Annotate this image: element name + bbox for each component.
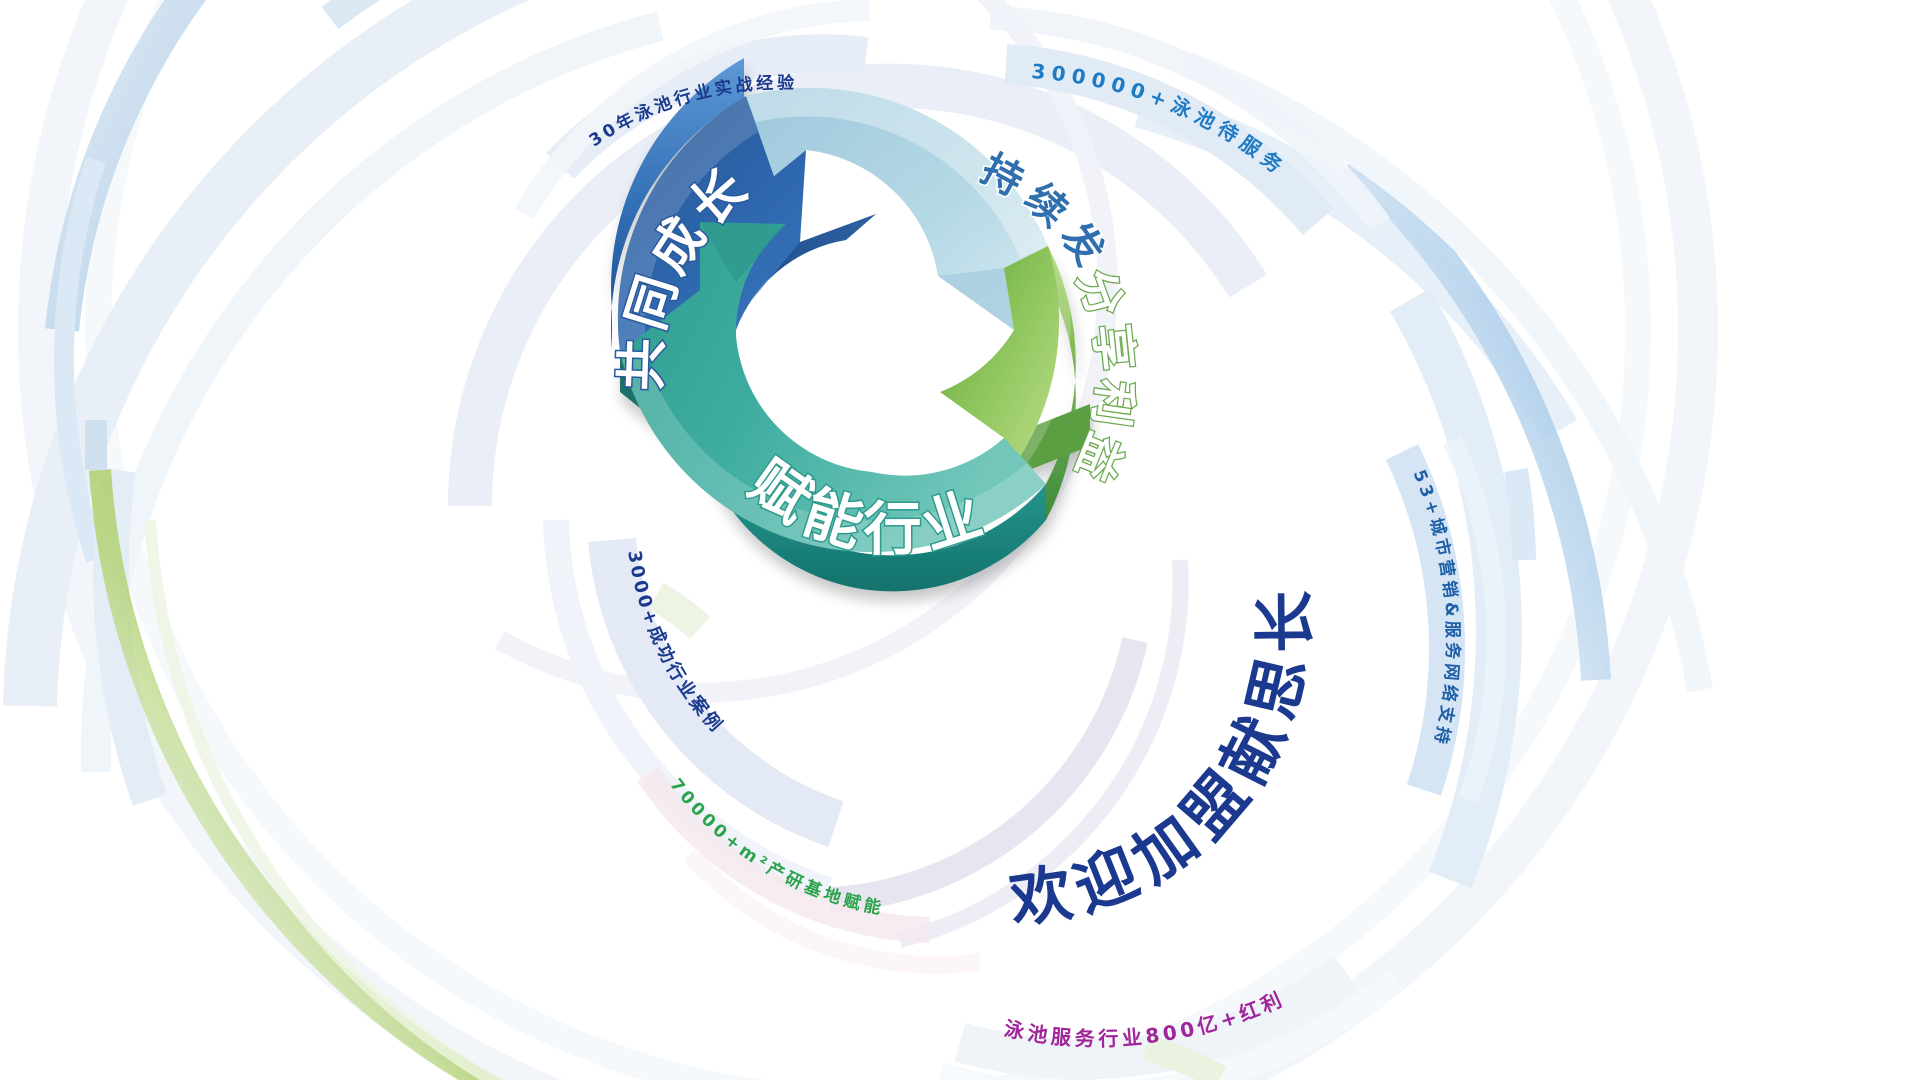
poster-headline: 欢迎加盟献思长	[1004, 580, 1322, 937]
poster-artwork: 共同成长 持续发展 分享利益 赋能行业 30年泳池行业实战经验 300000+泳…	[0, 0, 1920, 1080]
poster-canvas: 共同成长 持续发展 分享利益 赋能行业 30年泳池行业实战经验 300000+泳…	[0, 0, 1920, 1080]
